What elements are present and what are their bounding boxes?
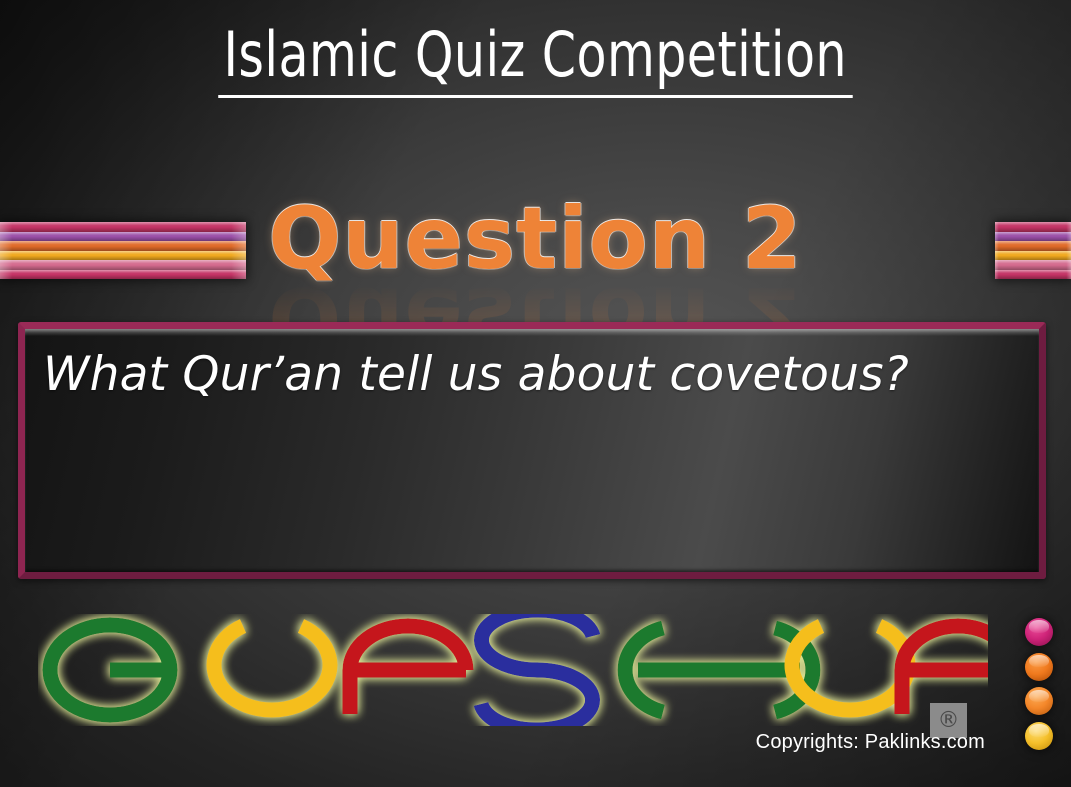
stripe-pink [995,260,1071,270]
question-heading: Question 2 [268,196,803,282]
stripe-gold [995,251,1071,261]
quiz-slide: Islamic Quiz Competition Question 2 Ques… [0,0,1071,787]
dot-orange-1 [1025,653,1053,681]
stripe-crimson-top [995,222,1071,232]
stripe-orange [995,241,1071,251]
dot-column [1021,618,1057,750]
copyright-text: Copyrights: Paklinks.com [0,731,985,754]
stripe-purple [995,232,1071,242]
dot-gold [1025,722,1053,750]
left-stripe-bar [0,222,246,279]
stripe-crimson-bottom [995,270,1071,280]
dot-magenta [1025,618,1053,646]
registered-trademark-glyph: ® [938,710,960,732]
page-title-container: Islamic Quiz Competition [0,22,1071,98]
stripe-crimson-bottom [0,270,246,280]
question-text: What Qur’an tell us about covetous? [43,343,1013,408]
right-stripe-bar [995,222,1071,279]
stripe-pink [0,260,246,270]
gupshup-logo [38,614,988,726]
stripe-purple [0,232,246,242]
dot-orange-2 [1025,687,1053,715]
stripe-gold [0,251,246,261]
question-box: What Qur’an tell us about covetous? [18,322,1046,579]
stripe-orange [0,241,246,251]
page-title: Islamic Quiz Competition [218,22,852,98]
stripe-crimson-top [0,222,246,232]
